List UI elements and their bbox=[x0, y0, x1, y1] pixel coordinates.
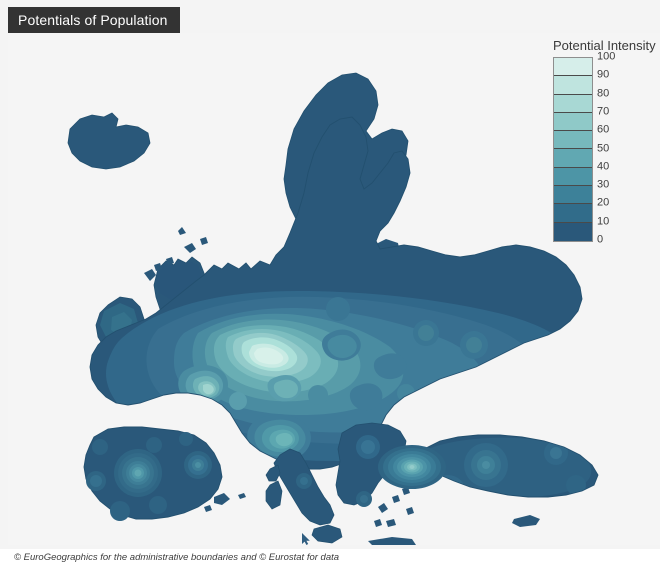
legend-tick-90: 90 bbox=[597, 70, 609, 81]
legend-band-80-90 bbox=[554, 76, 592, 94]
page-title: Potentials of Population bbox=[18, 12, 168, 28]
legend-band-20-30 bbox=[554, 186, 592, 204]
legend-band-0-10 bbox=[554, 223, 592, 241]
legend-colorbar bbox=[553, 57, 593, 242]
legend-tick-10: 10 bbox=[597, 216, 609, 227]
legend-tick-labels: 1009080706050403020100 bbox=[597, 57, 657, 240]
legend-tick-30: 30 bbox=[597, 180, 609, 191]
attribution-text: © EuroGeographics for the administrative… bbox=[14, 552, 339, 563]
legend-band-50-60 bbox=[554, 131, 592, 149]
legend-band-10-20 bbox=[554, 204, 592, 222]
legend-band-90-100 bbox=[554, 58, 592, 76]
legend-band-40-50 bbox=[554, 149, 592, 167]
legend-tick-0: 0 bbox=[597, 235, 603, 246]
hotspot-istanbul bbox=[378, 445, 446, 489]
legend-tick-100: 100 bbox=[597, 52, 615, 63]
legend: Potential Intensity 10090807060504030201… bbox=[545, 33, 665, 253]
legend-band-60-70 bbox=[554, 113, 592, 131]
chart-title-bar: Potentials of Population bbox=[8, 7, 180, 33]
legend-band-30-40 bbox=[554, 168, 592, 186]
legend-band-70-80 bbox=[554, 95, 592, 113]
legend-tick-70: 70 bbox=[597, 106, 609, 117]
legend-tick-60: 60 bbox=[597, 125, 609, 136]
legend-tick-50: 50 bbox=[597, 143, 609, 154]
legend-tick-80: 80 bbox=[597, 88, 609, 99]
application-window: Potentials of Population bbox=[0, 0, 672, 576]
legend-tick-40: 40 bbox=[597, 161, 609, 172]
legend-tick-20: 20 bbox=[597, 198, 609, 209]
